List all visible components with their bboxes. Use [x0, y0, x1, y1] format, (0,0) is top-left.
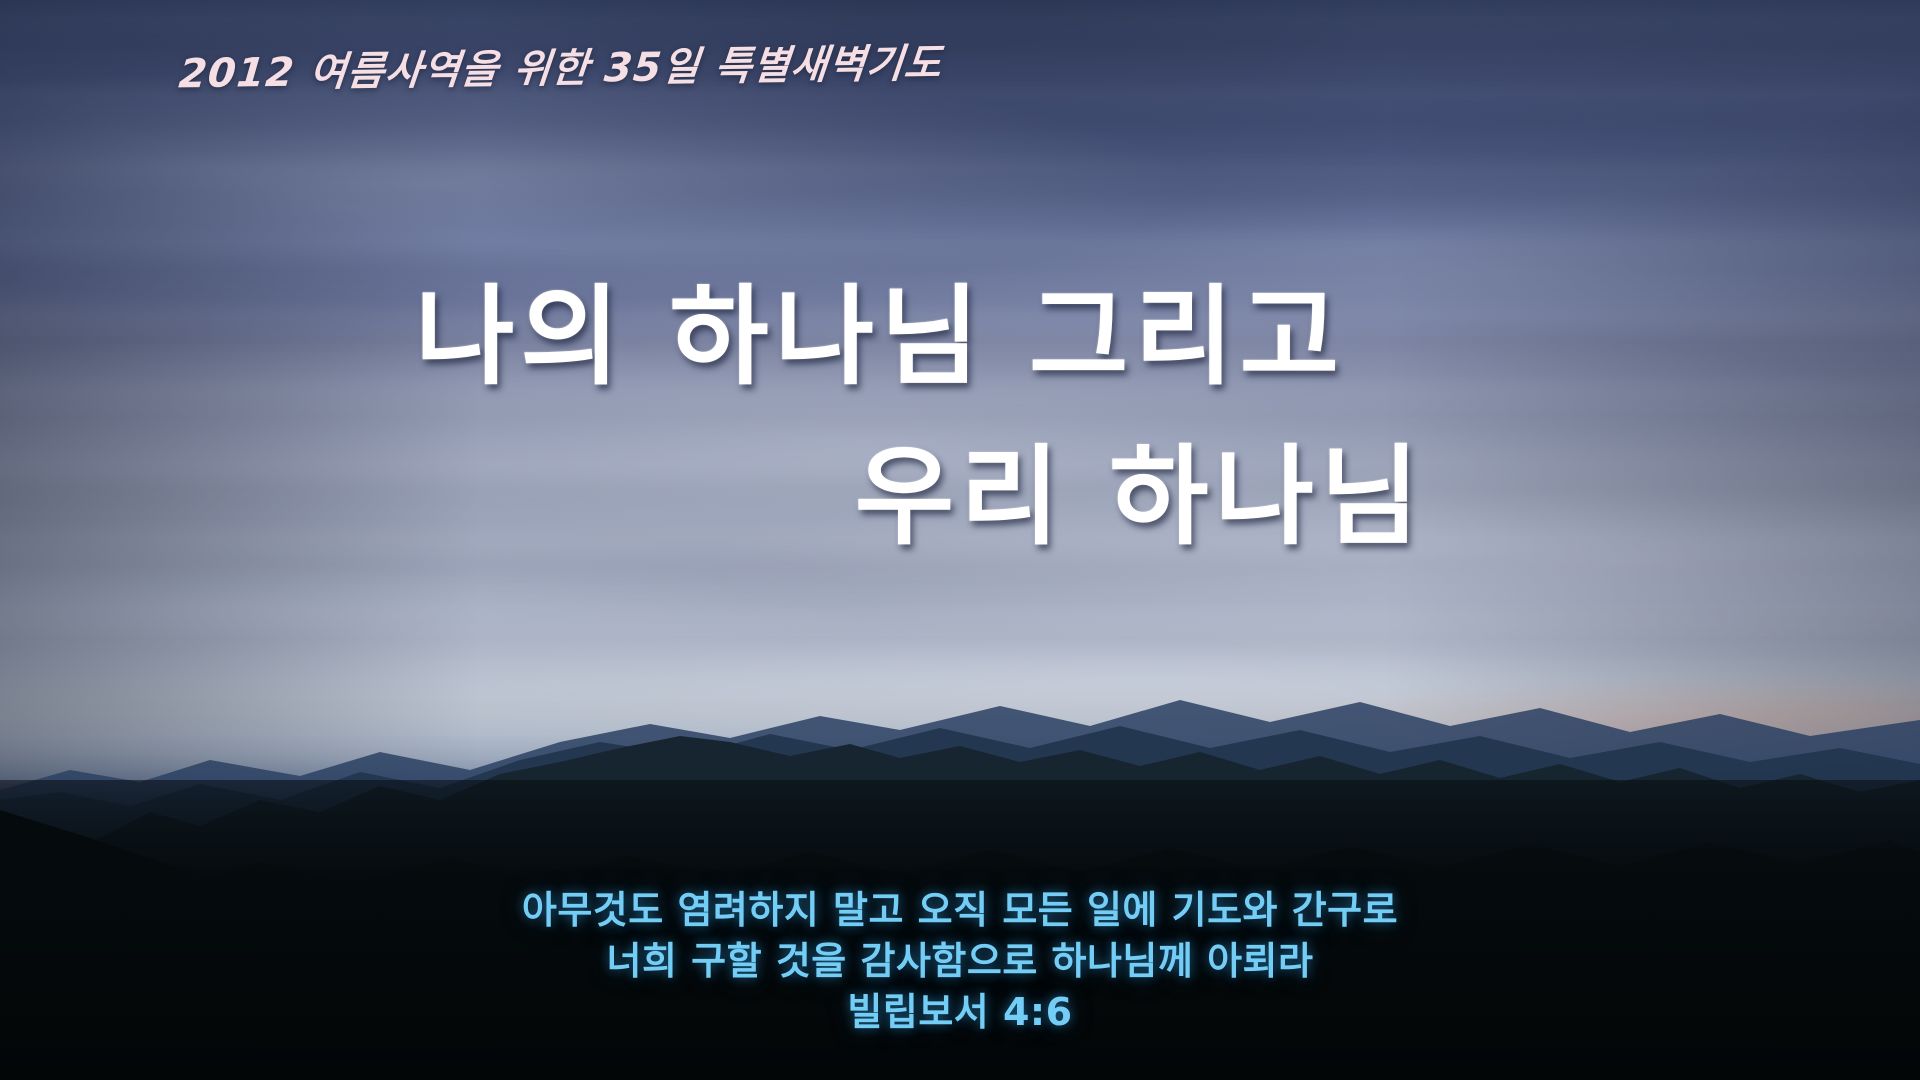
scripture-line-1: 아무것도 염려하지 말고 오직 모든 일에 기도와 간구로: [0, 885, 1920, 936]
slide-title-line-2: 우리 하나님: [0, 418, 1920, 578]
slide-title-line-1: 나의 하나님 그리고: [0, 258, 1920, 418]
scripture-line-2: 너희 구할 것을 감사함으로 하나님께 아뢰라: [0, 936, 1920, 987]
scripture-block: 아무것도 염려하지 말고 오직 모든 일에 기도와 간구로 너희 구할 것을 감…: [0, 885, 1920, 1038]
presentation-slide: 2012 여름사역을 위한 35일 특별새벽기도 나의 하나님 그리고 우리 하…: [0, 0, 1920, 1080]
slide-title-block: 나의 하나님 그리고 우리 하나님: [0, 258, 1920, 578]
scripture-reference: 빌립보서 4:6: [0, 987, 1920, 1038]
series-header-text: 2012 여름사역을 위한 35일 특별새벽기도: [177, 31, 945, 100]
